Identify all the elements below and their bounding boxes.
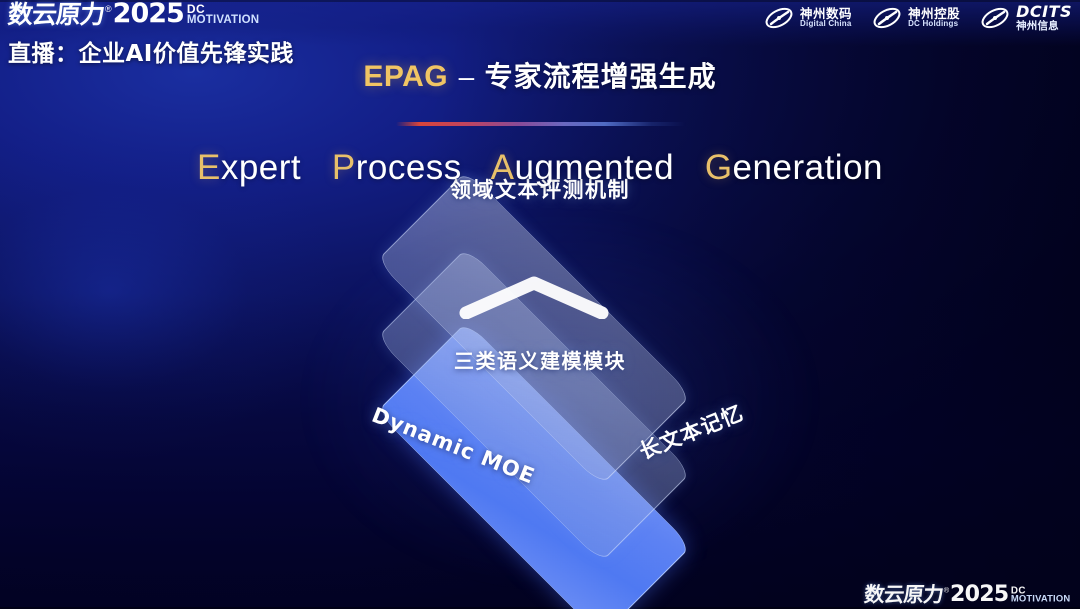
partner-text-digital-china: 神州数码 Digital China xyxy=(800,7,852,29)
chevron-up-icon xyxy=(458,275,610,319)
subtitle-rest-augmented: ugmented xyxy=(514,148,674,187)
subtitle-word-generation: Generation xyxy=(705,148,883,187)
partner-name-cn: DCITS xyxy=(1016,4,1072,21)
event-logo-dc: DC xyxy=(1011,585,1070,595)
brand-topleft: 数云原力 ® 2025 DC MOTIVATION 直播：企业AI价值先锋实践 xyxy=(8,2,294,68)
subtitle-space-1 xyxy=(311,148,321,187)
partner-logo-dcits: DCITS 神州信息 xyxy=(980,4,1072,32)
subtitle-word-process: Process xyxy=(332,148,462,187)
swoosh-icon xyxy=(980,5,1010,31)
partner-logo-dc-holdings: 神州控股 DC Holdings xyxy=(872,5,960,31)
event-logo-year: 2025 xyxy=(113,2,184,27)
event-logo-motivation: MOTIVATION xyxy=(187,15,259,27)
subtitle-space-2 xyxy=(472,148,482,187)
subtitle-word-expert: Expert xyxy=(197,148,301,187)
partner-name-en: DC Holdings xyxy=(908,20,960,28)
subtitle-cap-g: G xyxy=(705,148,733,187)
event-logo-year: 2025 xyxy=(950,585,1008,605)
headline-acronym: EPAG xyxy=(363,60,448,93)
registered-mark: ® xyxy=(943,587,948,594)
headline-chinese: 专家流程增强生成 xyxy=(485,60,717,93)
subtitle-rest-process: rocess xyxy=(356,148,462,187)
brand-bottomright: 数云原力 ® 2025 DC MOTIVATION xyxy=(864,585,1070,606)
registered-mark: ® xyxy=(105,5,112,14)
swoosh-icon xyxy=(764,5,794,31)
event-logo-dc-block: DC MOTIVATION xyxy=(1011,585,1070,604)
headline-dash: – xyxy=(459,61,475,92)
partner-name-en: Digital China xyxy=(800,20,852,28)
subtitle-rest-generation: eneration xyxy=(733,148,883,187)
subtitle-cap-p: P xyxy=(332,148,356,187)
headline-divider xyxy=(396,122,686,126)
partner-text-dcits: DCITS 神州信息 xyxy=(1016,4,1072,32)
diagram-label-bottom: 三类语义建模模块 xyxy=(0,345,1080,374)
presentation-slide: 数云原力 ® 2025 DC MOTIVATION 直播：企业AI价值先锋实践 … xyxy=(0,0,1080,609)
event-logo-dc-block: DC MOTIVATION xyxy=(187,3,259,27)
event-logo-cn: 数云原力 xyxy=(863,585,944,606)
subtitle-word-augmented: Augmented xyxy=(491,148,675,187)
swoosh-icon xyxy=(872,5,902,31)
partner-text-dc-holdings: 神州控股 DC Holdings xyxy=(908,7,960,29)
subtitle-rest-expert: xpert xyxy=(221,148,301,187)
event-logo-footer: 数云原力 ® 2025 DC MOTIVATION xyxy=(864,585,1070,606)
event-logo-motivation: MOTIVATION xyxy=(1011,595,1070,604)
slide-subtitle: Expert Process Augmented Generation xyxy=(0,148,1080,188)
live-session-title: 直播：企业AI价值先锋实践 xyxy=(8,34,294,68)
partner-logo-group: 神州数码 Digital China 神州控股 DC Holdings xyxy=(764,4,1072,32)
subtitle-cap-a: A xyxy=(491,148,515,187)
event-logo: 数云原力 ® 2025 DC MOTIVATION xyxy=(8,2,294,27)
partner-logo-digital-china: 神州数码 Digital China xyxy=(764,5,852,31)
event-logo-dc: DC xyxy=(187,3,259,15)
subtitle-space-3 xyxy=(684,148,694,187)
subtitle-cap-e: E xyxy=(197,148,221,187)
event-logo-cn: 数云原力 xyxy=(7,2,106,27)
partner-name-en: 神州信息 xyxy=(1016,21,1072,32)
